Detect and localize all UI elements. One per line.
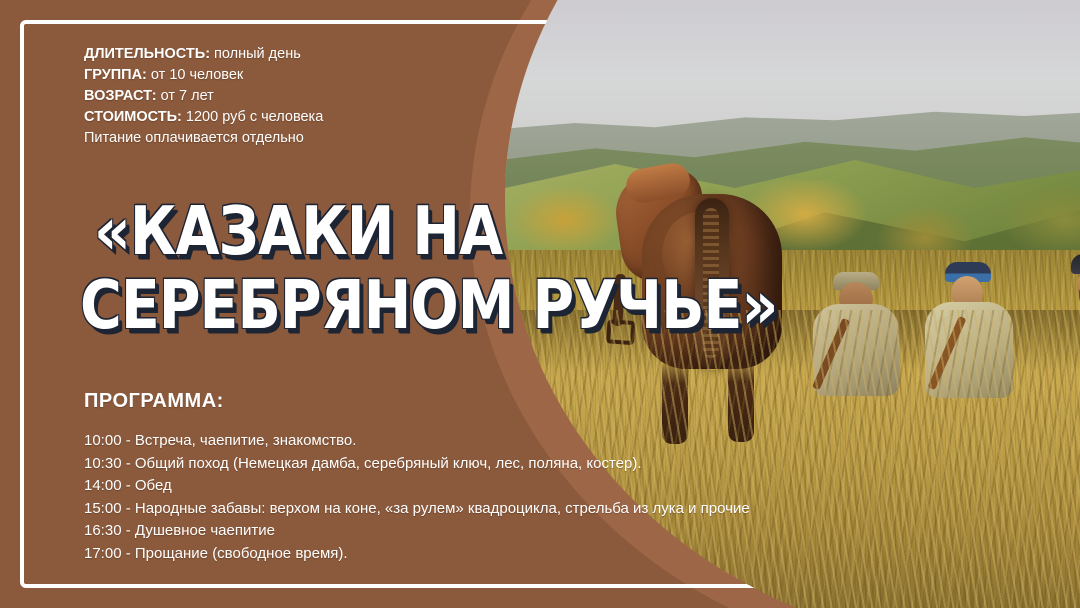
tour-info-block: ДЛИТЕЛЬНОСТЬ: полный день ГРУППА: от 10 … [84, 44, 323, 149]
papakha-hat-dark [1071, 254, 1080, 274]
list-item: 17:00 - Прощание (свободное время). [84, 543, 844, 566]
info-label-group: ГРУППА: [84, 67, 147, 83]
program-list: 10:00 - Встреча, чаепитие, знакомство. 1… [84, 430, 844, 565]
list-item: 16:30 - Душевное чаепитие [84, 520, 844, 543]
info-value-age: от 7 лет [157, 88, 214, 104]
info-line-age: ВОЗРАСТ: от 7 лет [84, 86, 323, 107]
poster: ДЛИТЕЛЬНОСТЬ: полный день ГРУППА: от 10 … [0, 0, 1080, 608]
title-line-1: «КАЗАКИ НА [94, 196, 780, 267]
info-line-group: ГРУППА: от 10 человек [84, 65, 323, 86]
info-line-price: СТОИМОСТЬ: 1200 руб с человека [84, 107, 323, 128]
info-value-duration: полный день [210, 46, 301, 62]
info-value-price: 1200 руб с человека [182, 109, 323, 125]
info-line-duration: ДЛИТЕЛЬНОСТЬ: полный день [84, 44, 323, 65]
program-items: 10:00 - Встреча, чаепитие, знакомство. 1… [84, 430, 844, 565]
list-item: 10:30 - Общий поход (Немецкая дамба, сер… [84, 453, 844, 476]
program-heading: ПРОГРАММА: [84, 390, 224, 413]
list-item: 10:00 - Встреча, чаепитие, знакомство. [84, 430, 844, 453]
info-value-group: от 10 человек [147, 67, 243, 83]
poster-title: «КАЗАКИ НА СЕРЕБРЯНОМ РУЧЬЕ» [80, 196, 780, 330]
list-item: 14:00 - Обед [84, 475, 844, 498]
info-label-price: СТОИМОСТЬ: [84, 109, 182, 125]
list-item: 15:00 - Народные забавы: верхом на коне,… [84, 498, 844, 521]
title-line-2: СЕРЕБРЯНОМ РУЧЬЕ» [80, 270, 780, 341]
info-label-duration: ДЛИТЕЛЬНОСТЬ: [84, 46, 210, 62]
info-label-age: ВОЗРАСТ: [84, 88, 157, 104]
info-note: Питание оплачивается отдельно [84, 128, 323, 149]
